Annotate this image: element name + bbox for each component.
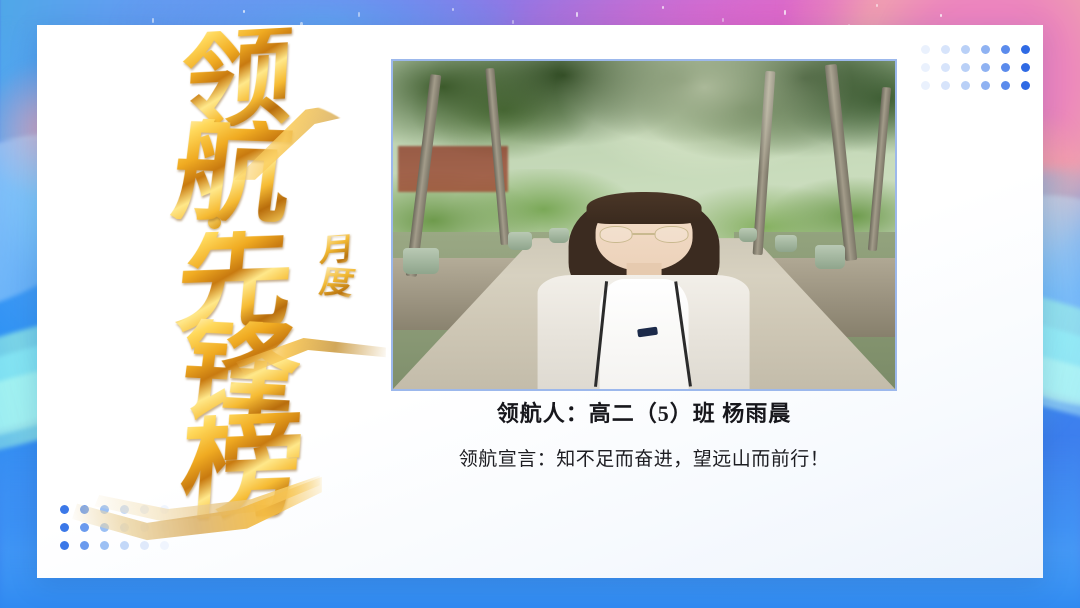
title-badge-char-yue: 月 <box>319 234 355 267</box>
decorative-dot <box>140 541 149 550</box>
decorative-dot <box>120 505 129 514</box>
title-badge-char-du: 度 <box>317 266 357 299</box>
decorative-dot <box>140 505 149 514</box>
decorative-dot <box>80 505 89 514</box>
decorative-dot <box>1021 63 1030 72</box>
honoree-name-caption: 领航人：高二（5）班 杨雨晨 <box>391 396 897 428</box>
decorative-dot <box>981 45 990 54</box>
decorative-dot <box>100 541 109 550</box>
decorative-dot <box>941 63 950 72</box>
sparkle-particle <box>243 10 245 13</box>
decorative-dot <box>140 523 149 532</box>
sparkle-particle <box>358 12 360 17</box>
sparkle-particle <box>452 8 454 11</box>
decorative-dot <box>1021 81 1030 90</box>
slide-canvas: 领 航 先 锋 榜 月 度 <box>0 0 1080 608</box>
decorative-dot <box>1001 63 1010 72</box>
dot-grid-top-right <box>921 45 1030 90</box>
decorative-dot <box>981 63 990 72</box>
decorative-dot <box>60 541 69 550</box>
photo-sunlight-glow <box>393 61 895 389</box>
sparkle-particle <box>512 20 514 24</box>
decorative-dot <box>961 45 970 54</box>
decorative-dot <box>60 523 69 532</box>
decorative-dot <box>941 81 950 90</box>
decorative-dot <box>80 523 89 532</box>
sparkle-particle <box>722 18 724 22</box>
decorative-dot <box>1021 45 1030 54</box>
decorative-dot <box>921 81 930 90</box>
decorative-dot <box>120 541 129 550</box>
title-character-column: 领 航 先 锋 榜 <box>172 30 302 519</box>
honoree-motto-caption: 领航宣言：知不足而奋进，望远山而前行！ <box>356 444 932 471</box>
title-char-bang: 榜 <box>177 412 307 521</box>
decorative-dot <box>1001 45 1010 54</box>
decorative-dot <box>100 505 109 514</box>
honoree-photo-frame[interactable] <box>391 59 897 391</box>
decorative-dot <box>921 63 930 72</box>
decorative-dot <box>120 523 129 532</box>
decorative-dot <box>961 63 970 72</box>
sparkle-particle <box>784 10 786 15</box>
sparkle-particle <box>876 4 878 7</box>
sparkle-particle <box>576 12 578 17</box>
decorative-dot <box>941 45 950 54</box>
sparkle-particle <box>152 18 154 23</box>
sparkle-particle <box>662 6 664 9</box>
content-card: 领 航 先 锋 榜 月 度 <box>37 25 1043 578</box>
decorative-dot <box>981 81 990 90</box>
decorative-dot <box>80 541 89 550</box>
decorative-dot <box>100 523 109 532</box>
title-badge-monthly: 月 度 <box>320 235 354 298</box>
decorative-dot <box>60 505 69 514</box>
sparkle-particle <box>940 14 942 17</box>
decorative-dot <box>961 81 970 90</box>
title-calligraphy: 领 航 先 锋 榜 月 度 <box>150 30 360 550</box>
decorative-dot <box>921 45 930 54</box>
title-char-hang: 航 <box>168 118 298 224</box>
honoree-photo <box>393 61 895 389</box>
decorative-dot <box>1001 81 1010 90</box>
